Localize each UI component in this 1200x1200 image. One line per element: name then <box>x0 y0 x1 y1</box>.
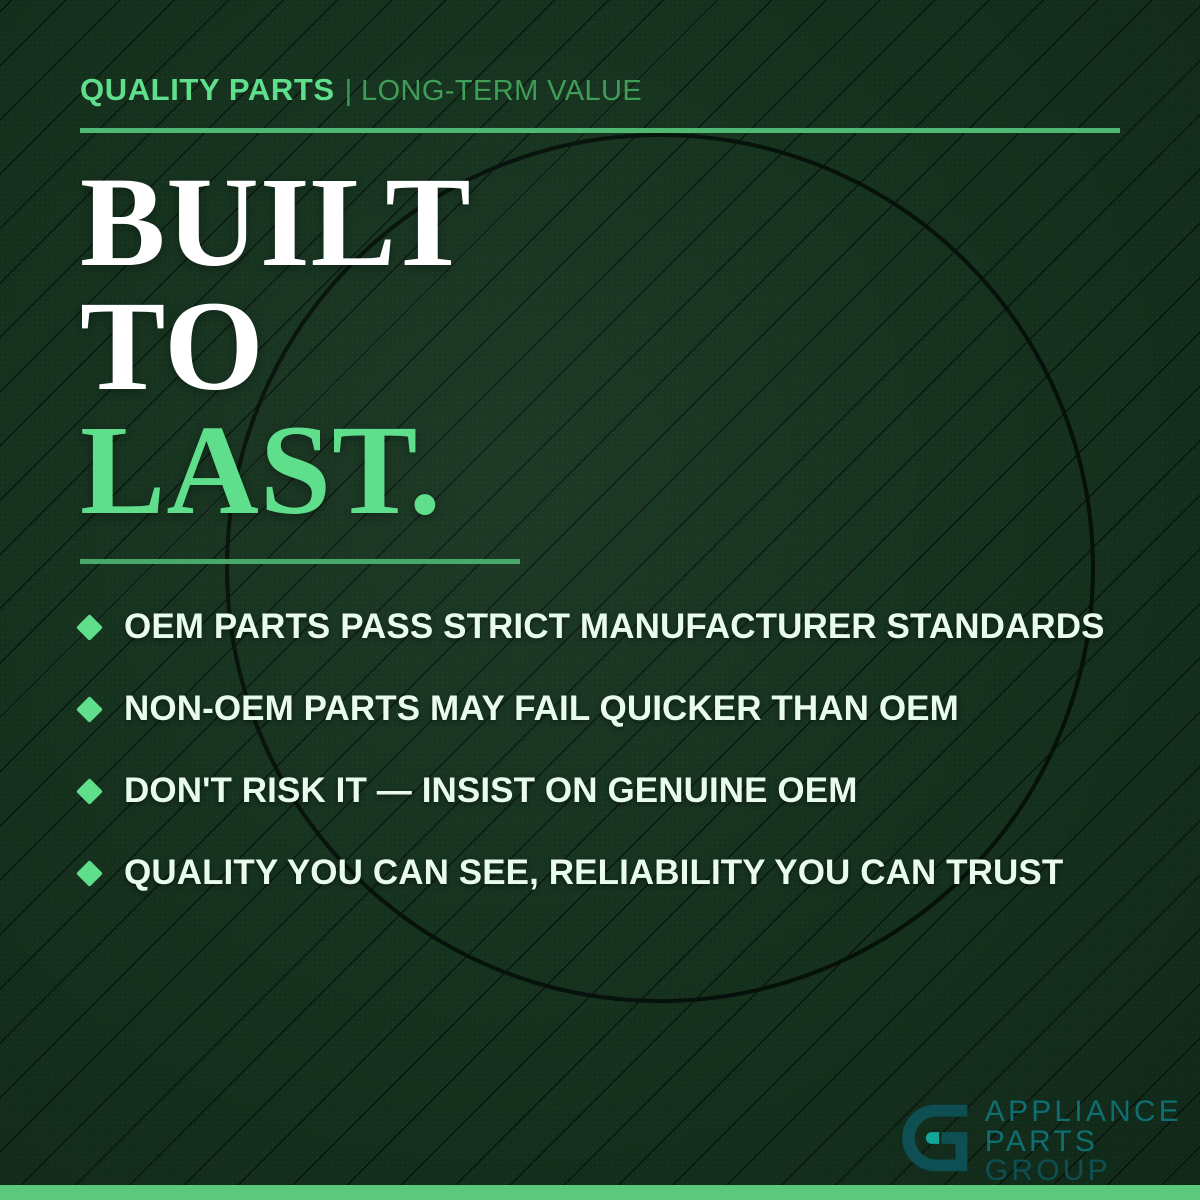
poster-canvas: QUALITY PARTS| LONG-TERM VALUE BUILT TO … <box>0 0 1200 1200</box>
eyebrow-subtitle: | LONG-TERM VALUE <box>345 75 642 107</box>
list-item-label: DON'T RISK IT — INSIST ON GENUINE OEM <box>124 771 857 811</box>
logo-line-parts: PARTS <box>985 1127 1182 1157</box>
brand-logo-wordmark: APPLIANCE PARTS GROUP <box>985 1095 1182 1186</box>
eyebrow-kicker: QUALITY PARTS <box>80 72 335 107</box>
list-item: DON'T RISK IT — INSIST ON GENUINE OEM <box>80 750 1140 832</box>
headline-line-2: TO <box>80 284 472 408</box>
logo-line-group: GROUP <box>985 1156 1182 1186</box>
list-item: OEM PARTS PASS STRICT MANUFACTURER STAND… <box>80 586 1140 668</box>
list-item: QUALITY YOU CAN SEE, RELIABILITY YOU CAN… <box>80 832 1140 914</box>
benefit-list: OEM PARTS PASS STRICT MANUFACTURER STAND… <box>80 586 1140 914</box>
list-item-label: QUALITY YOU CAN SEE, RELIABILITY YOU CAN… <box>124 853 1063 893</box>
brand-logo: APPLIANCE PARTS GROUP <box>897 1095 1182 1186</box>
page-title: BUILT TO LAST. <box>80 160 472 532</box>
diamond-bullet-icon <box>76 696 103 723</box>
headline-line-1: BUILT <box>80 160 472 284</box>
bottom-accent-bar <box>0 1185 1200 1200</box>
eyebrow-line: QUALITY PARTS| LONG-TERM VALUE <box>80 74 642 106</box>
list-item-label: NON-OEM PARTS MAY FAIL QUICKER THAN OEM <box>124 689 959 729</box>
diamond-bullet-icon <box>76 614 103 641</box>
poster-content: QUALITY PARTS| LONG-TERM VALUE BUILT TO … <box>0 0 1200 1200</box>
diamond-bullet-icon <box>76 860 103 887</box>
list-item-label: OEM PARTS PASS STRICT MANUFACTURER STAND… <box>124 607 1105 647</box>
top-divider-rule <box>80 128 1120 133</box>
appliance-parts-group-g-mark-icon <box>897 1101 971 1175</box>
logo-line-appliance: APPLIANCE <box>985 1097 1182 1127</box>
diamond-bullet-icon <box>76 778 103 805</box>
headline-divider-rule <box>80 559 520 564</box>
headline-line-3-accent: LAST. <box>80 408 472 532</box>
list-item: NON-OEM PARTS MAY FAIL QUICKER THAN OEM <box>80 668 1140 750</box>
